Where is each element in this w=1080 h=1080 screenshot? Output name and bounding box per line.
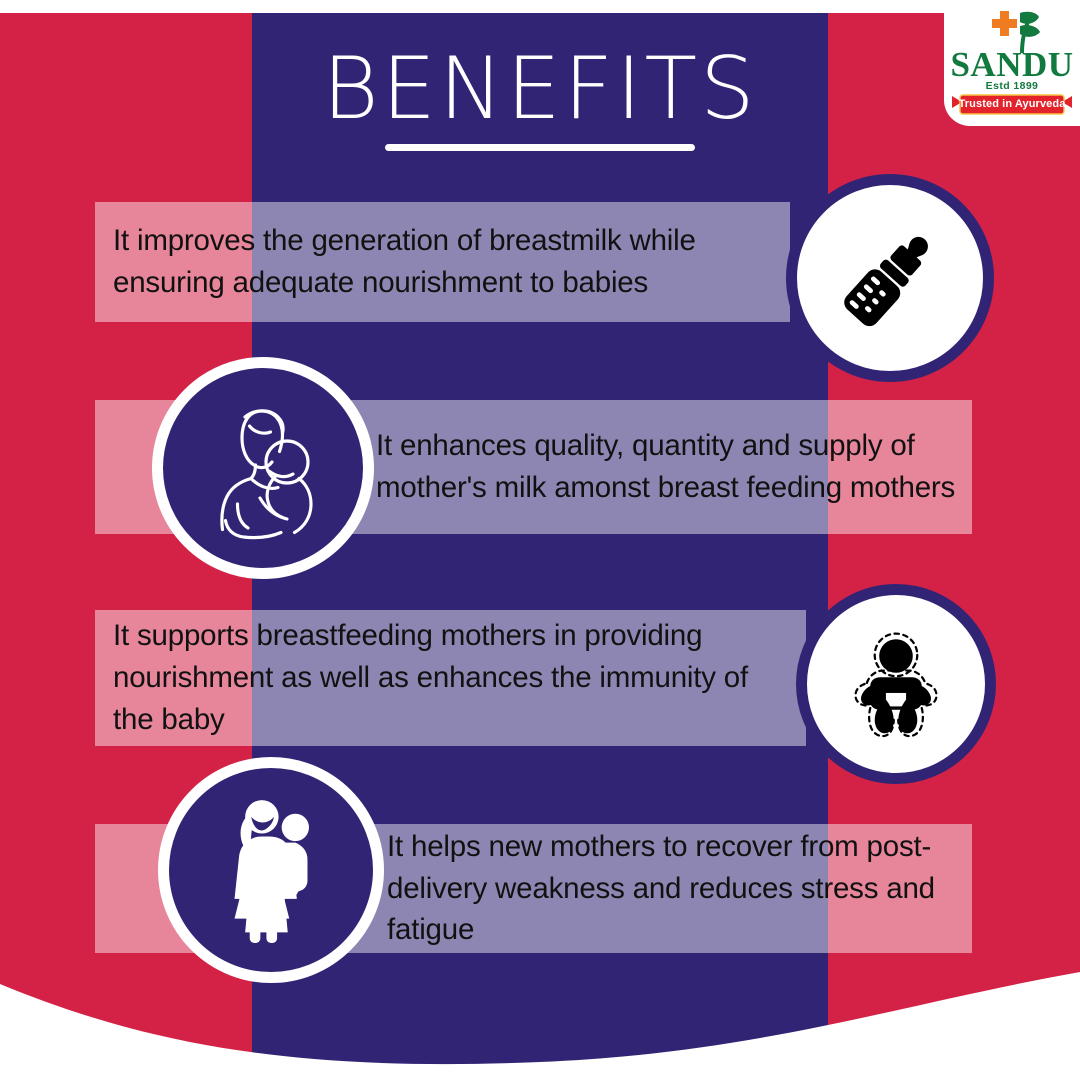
benefit-row-1: It improves the generation of breastmilk… (95, 202, 790, 322)
mother-carrying-baby-icon (195, 794, 347, 946)
benefit-icon-badge-1 (786, 174, 994, 382)
benefit-text-1: It improves the generation of breastmilk… (95, 220, 790, 304)
logo-wordmark: SANDU (950, 47, 1074, 82)
infographic-canvas: BENEFITS It improves the generation of b… (0, 0, 1080, 1080)
benefit-icon-badge-3 (796, 584, 996, 784)
page-title: BENEFITS (252, 46, 828, 132)
benefit-row-3: It supports breastfeeding mothers in pro… (95, 610, 806, 746)
title-block: BENEFITS (252, 46, 828, 151)
baby-icon (840, 628, 952, 740)
mother-nursing-baby-icon (188, 393, 338, 543)
benefit-icon-badge-2 (152, 357, 374, 579)
benefit-text-3: It supports breastfeeding mothers in pro… (95, 615, 806, 741)
benefit-icon-badge-4 (158, 757, 384, 983)
logo-tagline: Trusted in Ayurveda (950, 97, 1074, 112)
title-underline (385, 144, 695, 151)
logo-established: Estd 1899 (950, 80, 1074, 92)
baby-bottle-icon (831, 219, 949, 337)
brand-logo: SANDU Estd 1899 Trusted in Ayurveda (944, 0, 1080, 126)
